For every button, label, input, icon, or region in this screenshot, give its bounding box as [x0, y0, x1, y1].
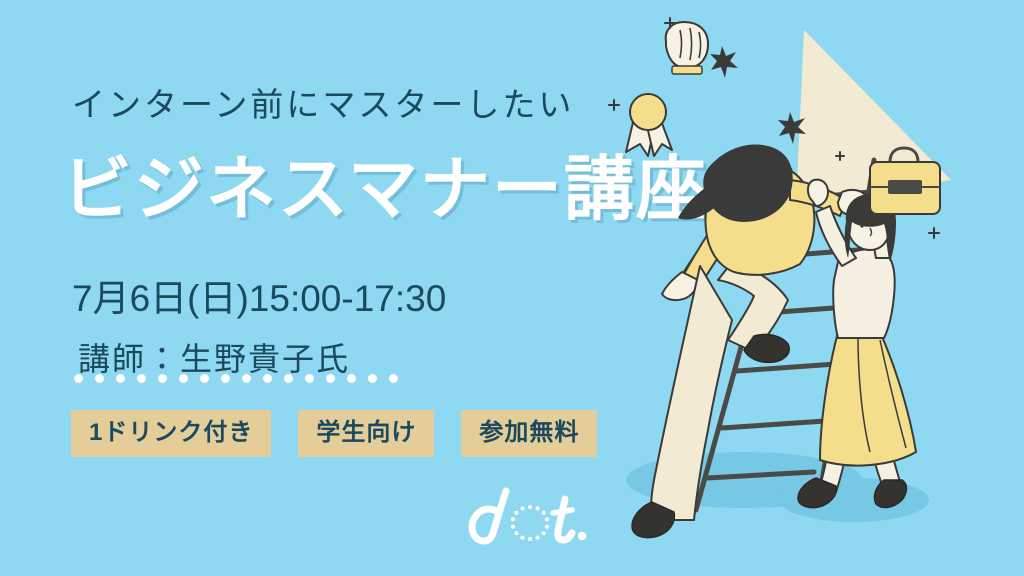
- divider-dot: [326, 374, 335, 383]
- divider-dot: [116, 374, 125, 383]
- divider-dot: [200, 374, 209, 383]
- badge-2: 参加無料: [461, 410, 597, 457]
- divider-dot: [95, 374, 104, 383]
- divider-dot: [389, 374, 398, 383]
- seminar-banner: インターン前にマスターしたい ビジネスマナー講座 7月6日(日)15:00-17…: [0, 0, 1024, 576]
- divider-dot: [137, 374, 146, 383]
- divider-dot: [263, 374, 272, 383]
- badge-1: 学生向け: [298, 410, 434, 457]
- divider-dot: [179, 374, 188, 383]
- logo-letter-d: [472, 491, 506, 541]
- logo-letter-t: [553, 499, 572, 540]
- dot-logo: [468, 487, 588, 545]
- sparkle-star: [710, 46, 806, 144]
- banner-subtitle: インターン前にマスターしたい: [72, 78, 574, 126]
- divider-dot: [368, 374, 377, 383]
- dotted-divider: [74, 372, 398, 384]
- badge-list: 1ドリンク付き学生向け参加無料: [71, 410, 597, 457]
- divider-dot: [158, 374, 167, 383]
- divider-dot: [242, 374, 251, 383]
- event-datetime: 7月6日(日)15:00-17:30: [72, 268, 446, 322]
- medal-ribbon-icon: [626, 94, 672, 156]
- ladder-illustration: [604, 0, 1024, 576]
- fist-icon: [666, 22, 708, 74]
- divider-dot: [347, 374, 356, 383]
- logo-period: [578, 532, 586, 540]
- logo-letter-o-dot-ring: [511, 505, 549, 541]
- divider-dot: [284, 374, 293, 383]
- divider-dot: [221, 374, 230, 383]
- divider-dot: [305, 374, 314, 383]
- divider-dot: [74, 374, 83, 383]
- badge-0: 1ドリンク付き: [71, 410, 271, 457]
